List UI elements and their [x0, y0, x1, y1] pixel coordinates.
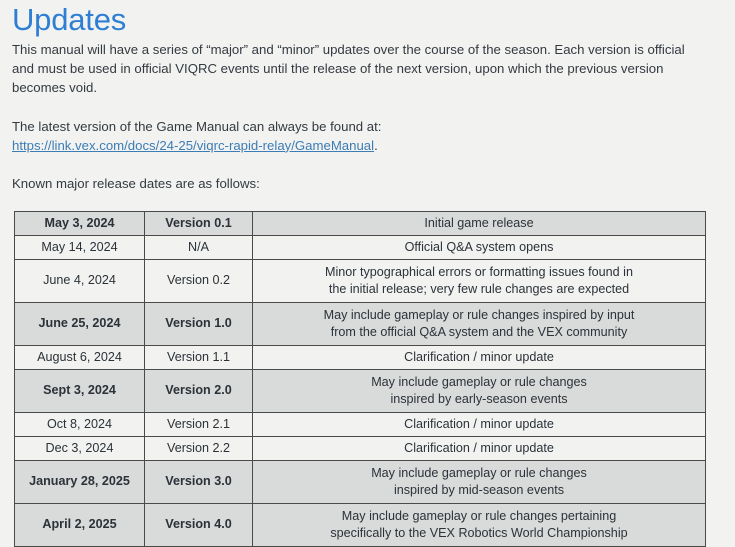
release-version-cell: Version 4.0: [145, 504, 253, 547]
release-date-cell: May 3, 2024: [15, 212, 145, 236]
description-line: inspired by mid-season events: [257, 482, 701, 500]
description-line: Clarification / minor update: [257, 416, 701, 434]
table-row: May 14, 2024N/AOfficial Q&A system opens: [15, 236, 706, 260]
description-line: May include gameplay or rule changes per…: [257, 508, 701, 526]
release-date-cell: May 14, 2024: [15, 236, 145, 260]
release-description-cell: Clarification / minor update: [253, 346, 706, 370]
release-version-cell: N/A: [145, 236, 253, 260]
document-page: Updates This manual will have a series o…: [0, 0, 735, 534]
game-manual-link[interactable]: https://link.vex.com/docs/24-25/viqrc-ra…: [12, 138, 374, 153]
release-version-cell: Version 2.2: [145, 437, 253, 461]
known-dates-paragraph: Known major release dates are as follows…: [0, 174, 735, 193]
table-row: April 2, 2025Version 4.0May include game…: [15, 504, 706, 547]
release-version-cell: Version 2.0: [145, 370, 253, 413]
release-date-cell: Sept 3, 2024: [15, 370, 145, 413]
table-row: June 4, 2024Version 0.2Minor typographic…: [15, 260, 706, 303]
table-row: Sept 3, 2024Version 2.0May include gamep…: [15, 370, 706, 413]
description-line: Initial game release: [257, 215, 701, 233]
description-line: Clarification / minor update: [257, 349, 701, 367]
page-title: Updates: [0, 0, 735, 38]
description-line: Official Q&A system opens: [257, 239, 701, 257]
description-line: May include gameplay or rule changes ins…: [257, 307, 701, 325]
release-date-cell: June 4, 2024: [15, 260, 145, 303]
release-description-cell: May include gameplay or rule changesinsp…: [253, 461, 706, 504]
release-description-cell: Official Q&A system opens: [253, 236, 706, 260]
link-period: .: [374, 138, 378, 153]
release-date-cell: Oct 8, 2024: [15, 413, 145, 437]
release-date-cell: August 6, 2024: [15, 346, 145, 370]
latest-version-prefix: The latest version of the Game Manual ca…: [12, 119, 381, 134]
release-version-cell: Version 0.2: [145, 260, 253, 303]
description-line: the initial release; very few rule chang…: [257, 281, 701, 299]
release-table-body: May 3, 2024Version 0.1Initial game relea…: [15, 212, 706, 547]
release-version-cell: Version 3.0: [145, 461, 253, 504]
release-description-cell: Clarification / minor update: [253, 437, 706, 461]
release-description-cell: Minor typographical errors or formatting…: [253, 260, 706, 303]
release-date-cell: April 2, 2025: [15, 504, 145, 547]
table-row: Dec 3, 2024Version 2.2Clarification / mi…: [15, 437, 706, 461]
description-line: Minor typographical errors or formatting…: [257, 264, 701, 282]
release-description-cell: May include gameplay or rule changesinsp…: [253, 370, 706, 413]
table-row: Oct 8, 2024Version 2.1Clarification / mi…: [15, 413, 706, 437]
release-date-cell: June 25, 2024: [15, 303, 145, 346]
description-line: May include gameplay or rule changes: [257, 465, 701, 483]
latest-version-paragraph: The latest version of the Game Manual ca…: [0, 117, 735, 155]
table-row: January 28, 2025Version 3.0May include g…: [15, 461, 706, 504]
release-date-cell: Dec 3, 2024: [15, 437, 145, 461]
release-description-cell: Initial game release: [253, 212, 706, 236]
release-version-cell: Version 0.1: [145, 212, 253, 236]
description-line: Clarification / minor update: [257, 440, 701, 458]
release-description-cell: Clarification / minor update: [253, 413, 706, 437]
table-row: August 6, 2024Version 1.1Clarification /…: [15, 346, 706, 370]
release-description-cell: May include gameplay or rule changes per…: [253, 504, 706, 547]
release-date-cell: January 28, 2025: [15, 461, 145, 504]
description-line: May include gameplay or rule changes: [257, 374, 701, 392]
table-row: May 3, 2024Version 0.1Initial game relea…: [15, 212, 706, 236]
intro-paragraph: This manual will have a series of “major…: [0, 40, 735, 98]
table-row: June 25, 2024Version 1.0May include game…: [15, 303, 706, 346]
description-line: from the official Q&A system and the VEX…: [257, 324, 701, 342]
release-description-cell: May include gameplay or rule changes ins…: [253, 303, 706, 346]
release-version-cell: Version 2.1: [145, 413, 253, 437]
description-line: inspired by early-season events: [257, 391, 701, 409]
release-dates-table: May 3, 2024Version 0.1Initial game relea…: [14, 211, 706, 547]
release-version-cell: Version 1.0: [145, 303, 253, 346]
release-version-cell: Version 1.1: [145, 346, 253, 370]
